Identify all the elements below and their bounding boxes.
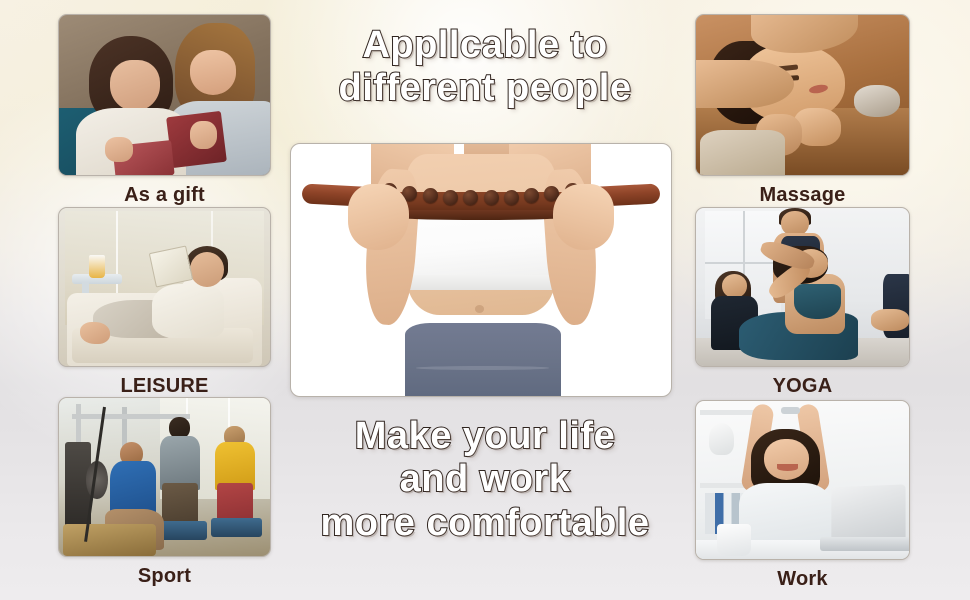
thumbnail-massage[interactable] [695,14,910,176]
thumbnail-gift[interactable] [58,14,271,176]
tagline-line-1: Make your life [275,415,695,458]
headline: Appllcable to different people [275,24,695,111]
promo-poster: As a gift LEISURE [0,0,970,600]
product-hero-image[interactable] [290,143,672,397]
caption-leisure: LEISURE [58,375,271,398]
caption-massage: Massage [695,184,910,207]
thumbnail-work[interactable] [695,400,910,560]
caption-sport: Sport [58,565,271,588]
roller-bead [524,188,539,203]
scene-massage [696,15,909,175]
feature-cell-sport: Sport [58,397,271,557]
scene-work [696,401,909,559]
feature-cell-leisure: LEISURE [58,207,271,367]
caption-work: Work [695,568,910,591]
feature-cell-gift: As a gift [58,14,271,176]
model-bra-band [409,275,553,290]
scene-leisure [59,208,270,366]
scene-sport [59,398,270,556]
thumbnail-sport[interactable] [58,397,271,557]
roller-bead [484,190,499,205]
thumbnail-yoga[interactable] [695,207,910,367]
caption-yoga: YOGA [695,375,910,398]
scene-yoga [696,208,909,366]
model-hand-left [348,184,409,250]
feature-cell-yoga: YOGA [695,207,910,367]
tagline-line-2: and work [275,458,695,501]
headline-line-1: Appllcable to [275,24,695,67]
scene-gift [59,15,270,175]
tagline-line-3: more comfortable [275,502,695,545]
model-hand-right [553,184,614,250]
tagline: Make your life and work more comfortable [275,415,695,545]
roller-bead [423,188,438,203]
caption-gift: As a gift [58,184,271,207]
roller-bead [504,190,519,205]
roller-bead-row [382,183,580,205]
feature-cell-work: Work [695,400,910,560]
roller-bead [463,190,478,205]
roller-bead [443,190,458,205]
thumbnail-leisure[interactable] [58,207,271,367]
model-leggings [405,323,561,396]
model-leggings-seam [416,366,549,370]
feature-cell-massage: Massage [695,14,910,176]
headline-line-2: different people [275,67,695,110]
